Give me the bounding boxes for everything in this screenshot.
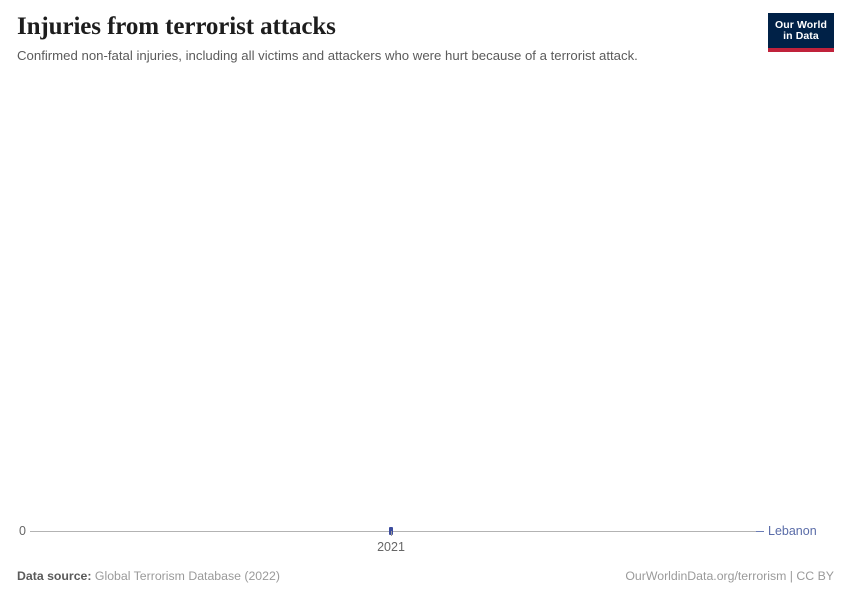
series-connector-line [756,531,764,532]
plot-area: 0 2021 Lebanon [0,80,850,550]
owid-logo-line-1: Our World [775,20,827,31]
y-axis-tick-label-0: 0 [14,523,26,539]
chart-footer: Data source: Global Terrorism Database (… [17,568,834,588]
x-axis-tick-mark [391,531,392,536]
chart-root: Injuries from terrorist attacks Confirme… [0,0,850,600]
page-title: Injuries from terrorist attacks [17,12,833,42]
zero-gridline [30,531,756,532]
x-axis-tick-label-2021: 2021 [351,539,431,555]
series-legend-lebanon[interactable]: Lebanon [756,523,817,539]
footer-data-source: Data source: Global Terrorism Database (… [17,568,280,584]
footer-source-value: Global Terrorism Database (2022) [95,569,280,583]
owid-logo-line-2: in Data [783,31,819,42]
chart-header: Injuries from terrorist attacks Confirme… [17,12,833,74]
footer-attribution[interactable]: OurWorldinData.org/terrorism | CC BY [625,568,834,584]
footer-source-label: Data source: [17,569,92,583]
owid-logo[interactable]: Our World in Data [768,13,834,52]
chart-subtitle: Confirmed non-fatal injuries, including … [17,47,833,64]
plot-canvas [30,80,755,531]
series-legend-label: Lebanon [768,523,817,539]
